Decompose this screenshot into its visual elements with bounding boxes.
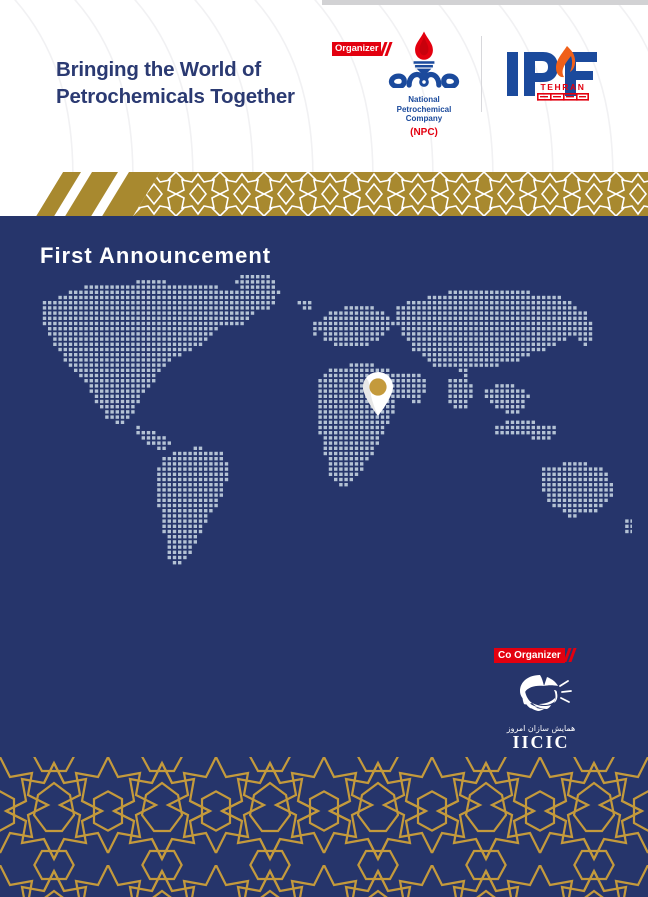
npc-logo-name: National Petrochemical Company (378, 95, 470, 124)
poster-root: Bringing the World of Petrochemicals Tog… (0, 0, 648, 897)
npc-logo-abbr: (NPC) (378, 127, 470, 138)
iicic-abbr: IICIC (498, 733, 584, 752)
slash-accent-icon-2 (565, 648, 578, 662)
top-grey-bar (322, 0, 648, 5)
bottom-ornament-pattern (0, 757, 648, 897)
ipf-logo: TEHRAN (505, 44, 601, 106)
gold-ornament-band (0, 172, 648, 218)
ipf-city-label: TEHRAN (540, 82, 585, 92)
co-organizer-badge: Co Organizer (494, 648, 578, 663)
organizer-badge-label: Organizer (332, 42, 381, 56)
first-announcement-label: First Announcement (40, 243, 271, 269)
page-title: Bringing the World of Petrochemicals Tog… (56, 56, 295, 110)
iicic-logo: همایش سازان امروز IICIC (498, 672, 584, 752)
iicic-swirl-icon (510, 672, 572, 718)
co-organizer-badge-label: Co Organizer (494, 648, 565, 663)
logo-divider (481, 36, 482, 112)
npc-flame-icon (378, 30, 470, 88)
location-pin-icon (363, 372, 393, 416)
world-map-dots (22, 275, 632, 575)
npc-logo: National Petrochemical Company (NPC) (378, 30, 470, 138)
